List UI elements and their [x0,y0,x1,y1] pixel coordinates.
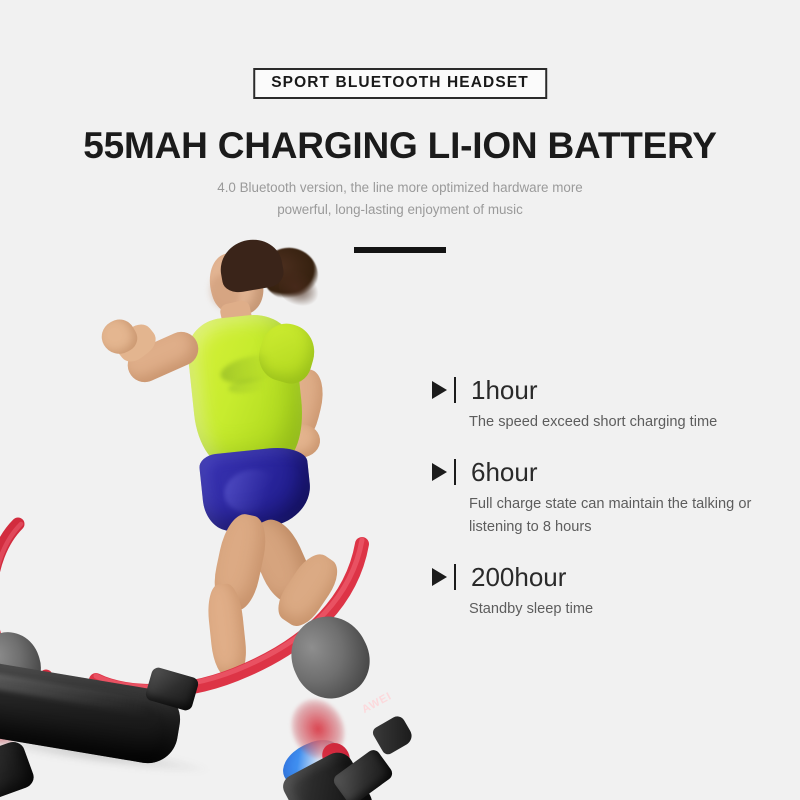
poster-canvas: AWEI SPORT BLUETOOTH HEADSET 55MAH CHARG… [0,0,800,800]
feature-heading: 1hour [432,375,782,405]
feature-heading: 200hour [432,562,782,592]
play-triangle-icon [432,463,447,481]
feature-title: 6hour [471,459,538,485]
feature-item-200-hour: 200hour Standby sleep time [432,562,782,622]
play-triangle-icon [432,381,447,399]
subtitle-line-2: powerful, long-lasting enjoyment of musi… [0,199,800,221]
feature-title: 200hour [471,564,566,590]
title-divider-bar [354,247,446,253]
vertical-divider-icon [454,377,456,403]
subtitle-line-1: 4.0 Bluetooth version, the line more opt… [0,177,800,199]
feature-description: Full charge state can maintain the talki… [469,493,782,540]
page-title: 55MAH CHARGING LI-ION BATTERY [0,126,800,167]
category-badge-label: SPORT BLUETOOTH HEADSET [271,75,529,91]
feature-item-6-hour: 6hour Full charge state can maintain the… [432,457,782,540]
feature-heading: 6hour [432,457,782,487]
earbud-right: AWEI [292,616,420,748]
play-triangle-icon [432,568,447,586]
feature-list: 1hour The speed exceed short charging ti… [432,375,782,622]
feature-item-1-hour: 1hour The speed exceed short charging ti… [432,375,782,435]
feature-description: The speed exceed short charging time [469,411,782,435]
feature-title: 1hour [471,377,538,403]
category-badge: SPORT BLUETOOTH HEADSET [253,68,547,99]
vertical-divider-icon [454,459,456,485]
earbud-silicone-tip [278,603,382,710]
vertical-divider-icon [454,564,456,590]
page-subtitle: 4.0 Bluetooth version, the line more opt… [0,177,800,220]
feature-description: Standby sleep time [469,598,782,622]
